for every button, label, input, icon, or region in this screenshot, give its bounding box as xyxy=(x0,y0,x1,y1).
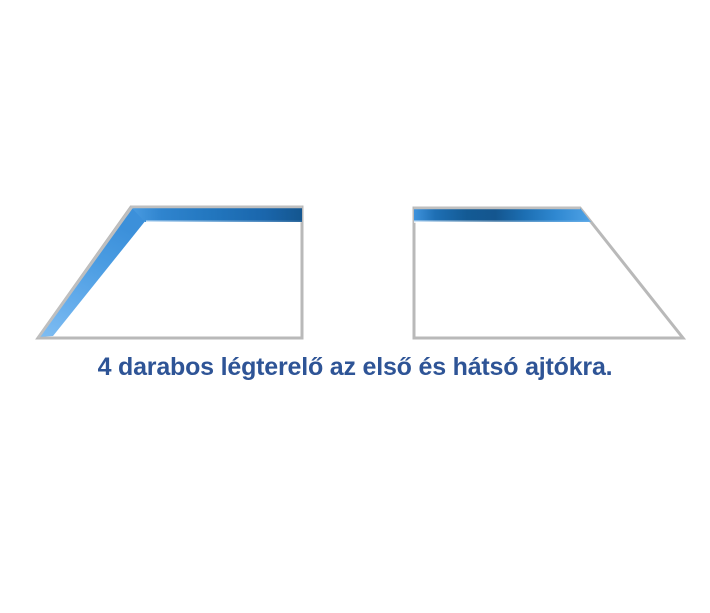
front-deflector-top-band xyxy=(131,207,302,222)
product-illustration: 4 darabos légterelő az első és hátsó ajt… xyxy=(0,0,710,613)
caption-text: 4 darabos légterelő az első és hátsó ajt… xyxy=(0,352,710,382)
rear-deflector-top-band xyxy=(414,208,591,222)
deflector-diagram xyxy=(0,0,710,613)
front-door-deflector xyxy=(38,207,302,338)
rear-window-pane xyxy=(414,208,683,338)
rear-deflector-band-sheen xyxy=(414,221,591,224)
rear-door-deflector xyxy=(414,208,683,338)
front-deflector-band-sheen xyxy=(146,221,302,224)
front-window-pane xyxy=(38,207,302,338)
